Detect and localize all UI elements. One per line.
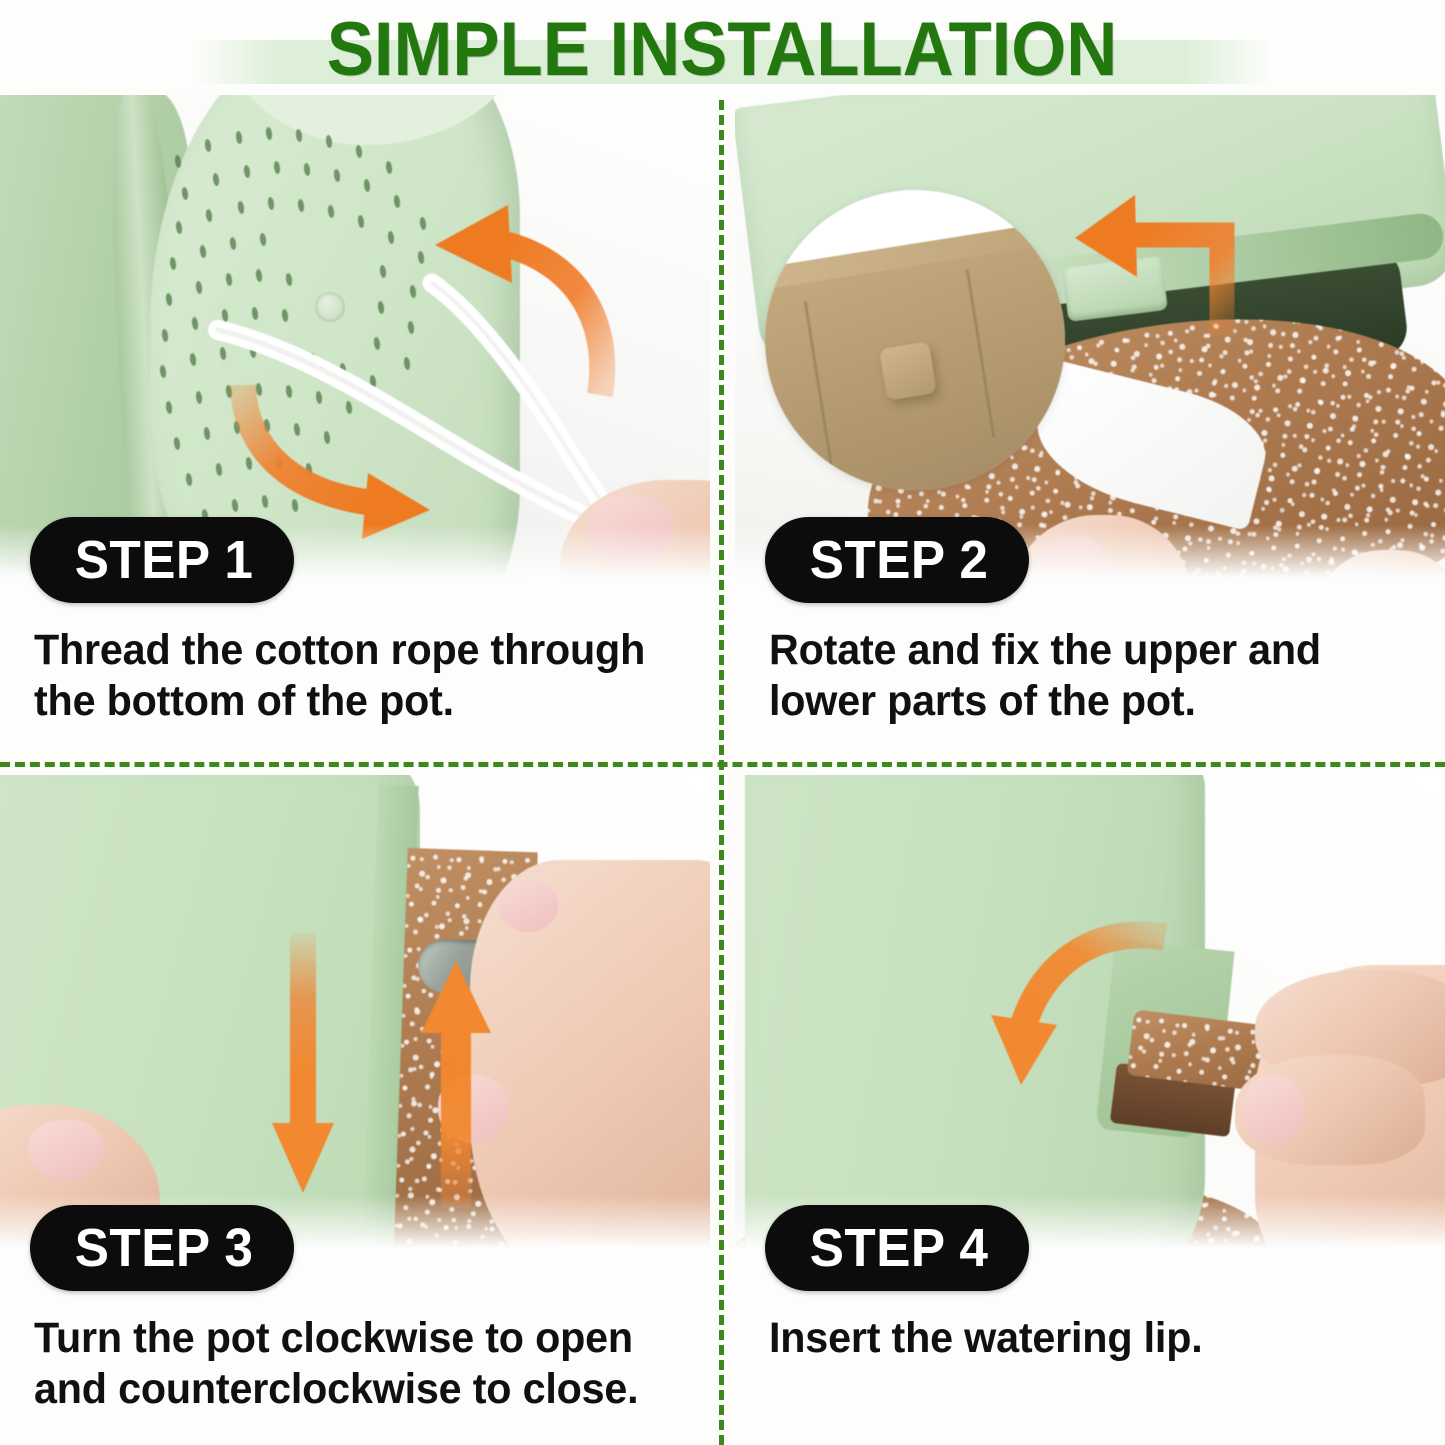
step-1-photo [0,95,710,585]
rotation-arrow-down-icon [0,95,710,585]
step-panel-4: STEP 4 Insert the watering lip. [735,775,1445,1443]
step-panel-3: STEP 3 Turn the pot clockwise to open an… [0,775,710,1443]
horizontal-divider [0,762,1445,767]
page-header: SIMPLE INSTALLATION [0,0,1445,95]
step-4-photo [735,775,1445,1255]
rotate-arrow-left-icon [735,95,1445,585]
step-3-badge: STEP 3 [30,1205,294,1291]
step-2-badge-label: STEP 2 [810,533,989,587]
step-1-caption: Thread the cotton rope through the botto… [34,625,668,726]
step-2-badge: STEP 2 [765,517,1029,603]
step-3-badge-label: STEP 3 [75,1221,254,1275]
page-title: SIMPLE INSTALLATION [327,12,1118,88]
step-4-badge: STEP 4 [765,1205,1029,1291]
step-3-caption: Turn the pot clockwise to open and count… [34,1313,668,1414]
step-1-badge-label: STEP 1 [75,533,254,587]
vertical-divider [719,100,724,1445]
step-panel-1: STEP 1 Thread the cotton rope through th… [0,95,710,763]
step-3-photo [0,775,710,1255]
step-4-badge-label: STEP 4 [810,1221,989,1275]
turn-arrow-up-icon [0,775,710,1255]
insert-arrow-down-icon [735,775,1445,1255]
step-4-caption: Insert the watering lip. [769,1313,1403,1364]
step-2-photo [735,95,1445,585]
installation-infographic: SIMPLE INSTALLATION [0,0,1445,1445]
step-1-badge: STEP 1 [30,517,294,603]
step-panel-2: STEP 2 Rotate and fix the upper and lowe… [735,95,1445,763]
step-2-caption: Rotate and fix the upper and lower parts… [769,625,1403,726]
